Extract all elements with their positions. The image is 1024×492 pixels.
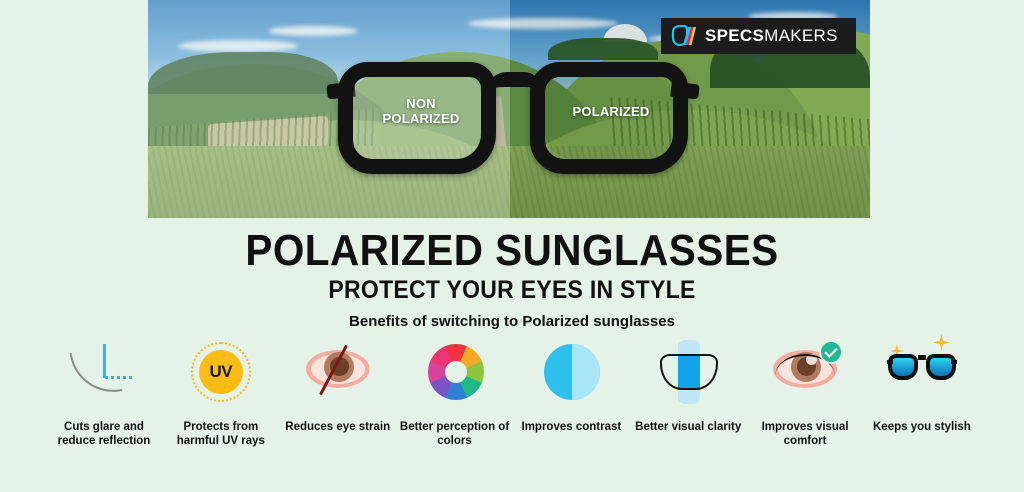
benefit-item: Reduces eye strain [282, 340, 394, 434]
hero-glasses-graphic: NON POLARIZED POLARIZED [338, 62, 688, 180]
uv-label: UV [210, 362, 233, 382]
eye-check-icon [769, 340, 841, 406]
benefit-caption: Cuts glare and reduce reflection [48, 420, 160, 448]
page-title: POLARIZED SUNGLASSES [41, 228, 983, 274]
benefit-caption: Improves contrast [522, 420, 622, 434]
sunglasses-right-lens [926, 354, 956, 380]
sunglasses-bridge [918, 355, 926, 360]
benefits-row: Cuts glare and reduce reflection UV Prot… [48, 340, 978, 480]
polarized-label: POLARIZED [536, 104, 686, 119]
uv-badge-icon: UV [185, 340, 257, 406]
uv-disc: UV [199, 350, 243, 394]
glare-vertical-ray [103, 344, 106, 378]
glare-dotted-ray [105, 376, 135, 379]
benefit-caption: Better visual clarity [635, 420, 741, 434]
glare-arc-shape [69, 344, 122, 400]
sunglasses-left-temple [887, 360, 893, 364]
benefit-item: Improves contrast [515, 340, 627, 434]
glare-deflection-icon [68, 340, 140, 406]
sunglasses-shape [888, 354, 956, 386]
brand-logo-specs: SPECS [705, 26, 764, 45]
eye-strain-blocked-icon [302, 340, 374, 406]
brand-logo[interactable]: SPECSMAKERS [661, 18, 856, 54]
non-polarized-label-line1: NON [346, 96, 496, 111]
contrast-disc [544, 344, 600, 400]
page-subtitle: PROTECT YOUR EYES IN STYLE [41, 276, 983, 304]
clarity-lens-outline [660, 354, 718, 390]
brand-logo-makers: MAKERS [764, 26, 838, 45]
right-temple-arm [670, 82, 699, 100]
eye-shape [306, 350, 370, 388]
benefit-item: Better perception of colors [399, 340, 511, 448]
sunglasses-right-temple [951, 360, 957, 364]
poster-root: NON POLARIZED POLARIZED SPECSMAKERS POLA… [0, 0, 1024, 492]
contrast-circle-icon [535, 340, 607, 406]
benefit-caption: Better perception of colors [399, 420, 511, 448]
benefit-item: Better visual clarity [632, 340, 744, 434]
benefit-item: Cuts glare and reduce reflection [48, 340, 160, 448]
benefit-item: UV Protects from harmful UV rays [165, 340, 277, 448]
benefit-caption: Improves visual comfort [749, 420, 861, 448]
benefit-caption: Reduces eye strain [285, 420, 390, 434]
hero-banner: NON POLARIZED POLARIZED SPECSMAKERS [148, 0, 870, 218]
check-badge-icon [819, 340, 843, 364]
lens-logo-icon [671, 25, 697, 47]
sunglasses-left-lens [888, 354, 918, 380]
sparkle-icon [933, 334, 950, 351]
benefits-intro: Benefits of switching to Polarized sungl… [0, 313, 1024, 330]
brand-logo-text: SPECSMAKERS [705, 26, 838, 46]
non-polarized-label: NON POLARIZED [346, 96, 496, 126]
benefit-caption: Keeps you stylish [873, 420, 971, 434]
benefit-caption: Protects from harmful UV rays [165, 420, 277, 448]
benefit-item: Improves visual comfort [749, 340, 861, 448]
lens-clarity-icon [652, 340, 724, 406]
benefit-item: Keeps you stylish [866, 340, 978, 434]
color-wheel-hole [445, 361, 467, 383]
sunglasses-sparkle-icon [886, 340, 958, 406]
color-wheel-icon [419, 340, 491, 406]
non-polarized-label-line2: POLARIZED [346, 111, 496, 126]
